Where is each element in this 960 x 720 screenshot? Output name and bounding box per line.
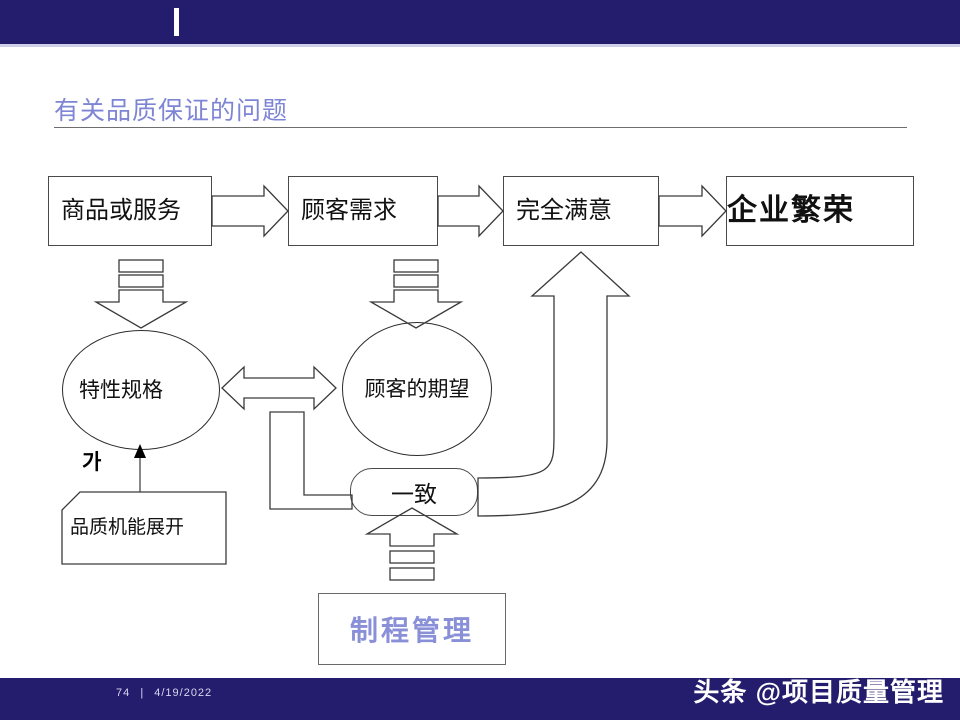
connector-elbow-to-consistency [270, 412, 352, 509]
note-qfd-label: 品质机能展开 [62, 518, 184, 539]
ellipse-label: 顾客的期望 [365, 377, 470, 401]
arrow-segment [390, 568, 434, 580]
footer-page-number: 74 [116, 687, 130, 699]
flow-box-label: 商品或服务 [61, 198, 211, 225]
arrow-segment [119, 275, 163, 287]
box-process-management-label: 制程管理 [350, 609, 474, 649]
flow-box-label: 完全满意 [516, 198, 658, 225]
box-process-management: 制程管理 [318, 593, 506, 665]
note-qfd-deployment: 品质机能展开 [62, 492, 226, 564]
arrow-segment [390, 551, 434, 563]
watermark-label: 头条 @项目质量管理 [693, 672, 944, 709]
arrow-segment [394, 275, 438, 287]
footer-date: 4/19/2022 [154, 687, 212, 699]
arrow-head-down-left [96, 290, 186, 328]
flow-box-label: 企业繁荣 [727, 194, 913, 228]
arrow-goods-to-demand [212, 186, 288, 236]
flow-box-customer-demand: 顾客需求 [288, 176, 438, 246]
slide-canvas: 有关品质保证的问题 商品或服务 顾客需求 完全满意 企业繁荣 特性规格 顾客的期… [0, 0, 960, 720]
ellipse-label: 特性规格 [79, 378, 163, 402]
arrow-double-spec-expectation [222, 367, 336, 409]
node-consistency-label: 一致 [391, 475, 437, 509]
flow-box-complete-satisfaction: 完全满意 [503, 176, 659, 246]
arrow-satisfaction-to-prosperity [659, 186, 726, 236]
flow-box-goods-or-service: 商品或服务 [48, 176, 212, 246]
quality-assurance-diagram: 商品或服务 顾客需求 完全满意 企业繁荣 特性规格 顾客的期望 가 一致 品质机… [0, 0, 960, 720]
footer-separator: | [140, 687, 144, 699]
ellipse-customer-expectation: 顾客的期望 [342, 322, 492, 456]
flow-box-label: 顾客需求 [301, 198, 437, 225]
arrow-segment [119, 260, 163, 272]
node-consistency: 一致 [350, 468, 478, 516]
footer-meta: 74 | 4/19/2022 [116, 687, 212, 699]
arrow-curved-consistency-to-satisfaction [478, 252, 629, 516]
arrow-segment [394, 260, 438, 272]
korean-annotation-mark: 가 [82, 446, 101, 476]
ellipse-characteristic-spec: 特性规格 [62, 330, 220, 450]
flow-box-enterprise-prosperity: 企业繁荣 [726, 176, 914, 246]
arrow-demand-to-satisfaction [438, 186, 503, 236]
